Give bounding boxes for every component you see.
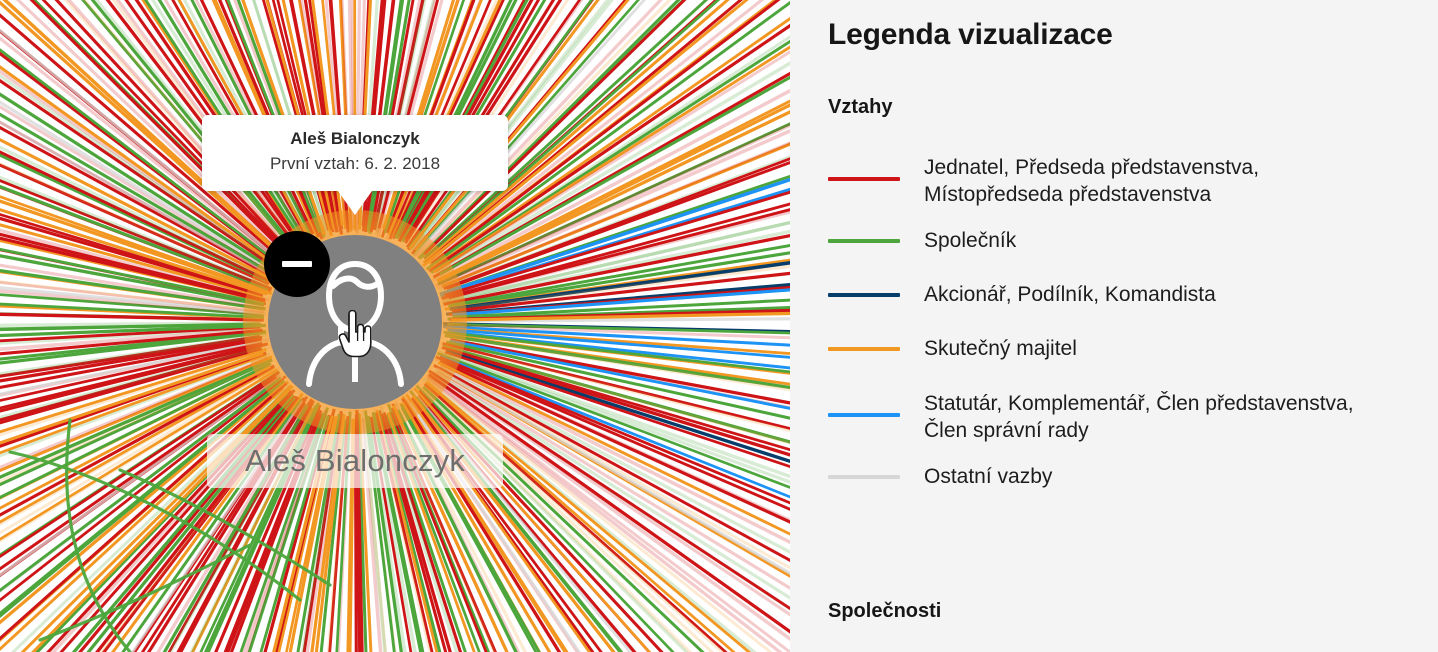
node-label-text: Aleš Bialonczyk [245, 443, 465, 479]
legend-swatch-cell [826, 462, 924, 492]
legend-item: Ostatní vazby [826, 462, 1426, 492]
legend-item-label: Společník [924, 226, 1016, 254]
tooltip-first-relation: První vztah: 6. 2. 2018 [212, 151, 498, 177]
legend-sidebar: Legenda vizualizace Vztahy Jednatel, Pře… [790, 0, 1438, 652]
legend-line-swatch [828, 475, 900, 479]
legend-section-relationships: Vztahy [828, 96, 892, 119]
graph-canvas[interactable]: Aleš Bialonczyk Aleš Bialonczyk První vz… [0, 0, 790, 652]
legend-swatch-cell [826, 152, 924, 206]
legend-line-swatch [828, 347, 900, 351]
legend-item: Skutečný majitel [826, 334, 1426, 364]
node-label: Aleš Bialonczyk [207, 434, 503, 488]
legend-line-swatch [828, 239, 900, 243]
node-tooltip: Aleš Bialonczyk První vztah: 6. 2. 2018 [202, 115, 508, 191]
tooltip-arrow [338, 191, 372, 215]
legend-section-companies: Společnosti [828, 600, 941, 623]
legend-swatch-cell [826, 280, 924, 310]
legend-line-swatch [828, 177, 900, 181]
legend-item: Statutár, Komplementář, Člen představens… [826, 388, 1426, 444]
legend-item-list: Jednatel, Předseda představenstva, Místo… [826, 152, 1426, 516]
tooltip-name: Aleš Bialonczyk [212, 127, 498, 151]
legend-swatch-cell [826, 388, 924, 442]
legend-item: Jednatel, Předseda představenstva, Místo… [826, 152, 1426, 208]
legend-line-swatch [828, 413, 900, 417]
visualization-page: Aleš Bialonczyk Aleš Bialonczyk První vz… [0, 0, 1438, 652]
collapse-node-button[interactable] [264, 231, 330, 297]
legend-title: Legenda vizualizace [828, 18, 1113, 52]
legend-swatch-cell [826, 226, 924, 256]
legend-swatch-cell [826, 334, 924, 364]
legend-item: Společník [826, 226, 1426, 256]
legend-line-swatch [828, 293, 900, 297]
legend-item-label: Skutečný majitel [924, 334, 1077, 362]
legend-item: Akcionář, Podílník, Komandista [826, 280, 1426, 310]
legend-item-label: Akcionář, Podílník, Komandista [924, 280, 1216, 308]
legend-item-label: Ostatní vazby [924, 462, 1052, 490]
minus-icon [282, 261, 312, 267]
legend-item-label: Statutár, Komplementář, Člen představens… [924, 388, 1394, 444]
legend-item-label: Jednatel, Předseda představenstva, Místo… [924, 152, 1394, 208]
